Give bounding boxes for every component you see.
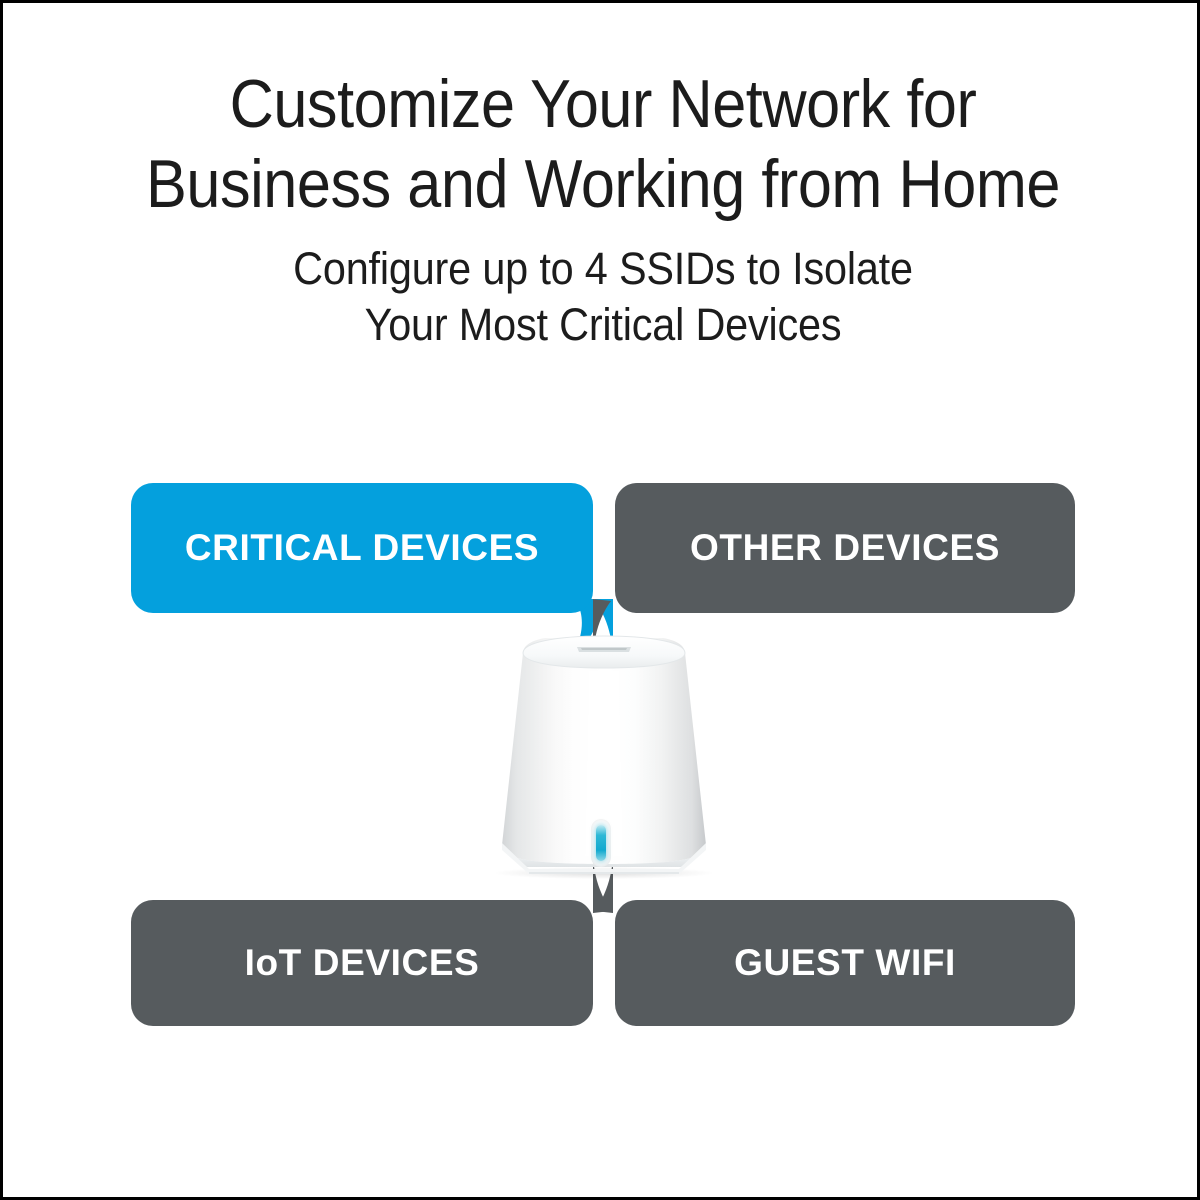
page-title: Customize Your Network for Business and … [3,65,1200,224]
badge-guest-wifi-label: GUEST WIFI [734,942,956,984]
infographic-canvas: Customize Your Network for Business and … [0,0,1200,1200]
subtitle-line-1: Configure up to 4 SSIDs to Isolate [51,241,1155,297]
badge-other-devices-label: OTHER DEVICES [690,527,1000,569]
badge-critical-devices[interactable]: CRITICAL DEVICES [131,483,593,613]
badge-guest-wifi[interactable]: GUEST WIFI [615,900,1075,1026]
badge-iot-devices-label: IoT DEVICES [245,942,480,984]
router-status-led [596,825,606,861]
page-subtitle: Configure up to 4 SSIDs to Isolate Your … [3,241,1200,353]
title-line-1: Customize Your Network for [63,65,1143,145]
badge-other-devices[interactable]: OTHER DEVICES [615,483,1075,613]
title-line-2: Business and Working from Home [63,145,1143,225]
title-heading: Customize Your Network for Business and … [63,65,1143,224]
badge-critical-devices-label: CRITICAL DEVICES [185,527,539,569]
badge-iot-devices[interactable]: IoT DEVICES [131,900,593,1026]
subtitle-line-2: Your Most Critical Devices [51,297,1155,353]
subtitle-text: Configure up to 4 SSIDs to Isolate Your … [51,241,1155,353]
